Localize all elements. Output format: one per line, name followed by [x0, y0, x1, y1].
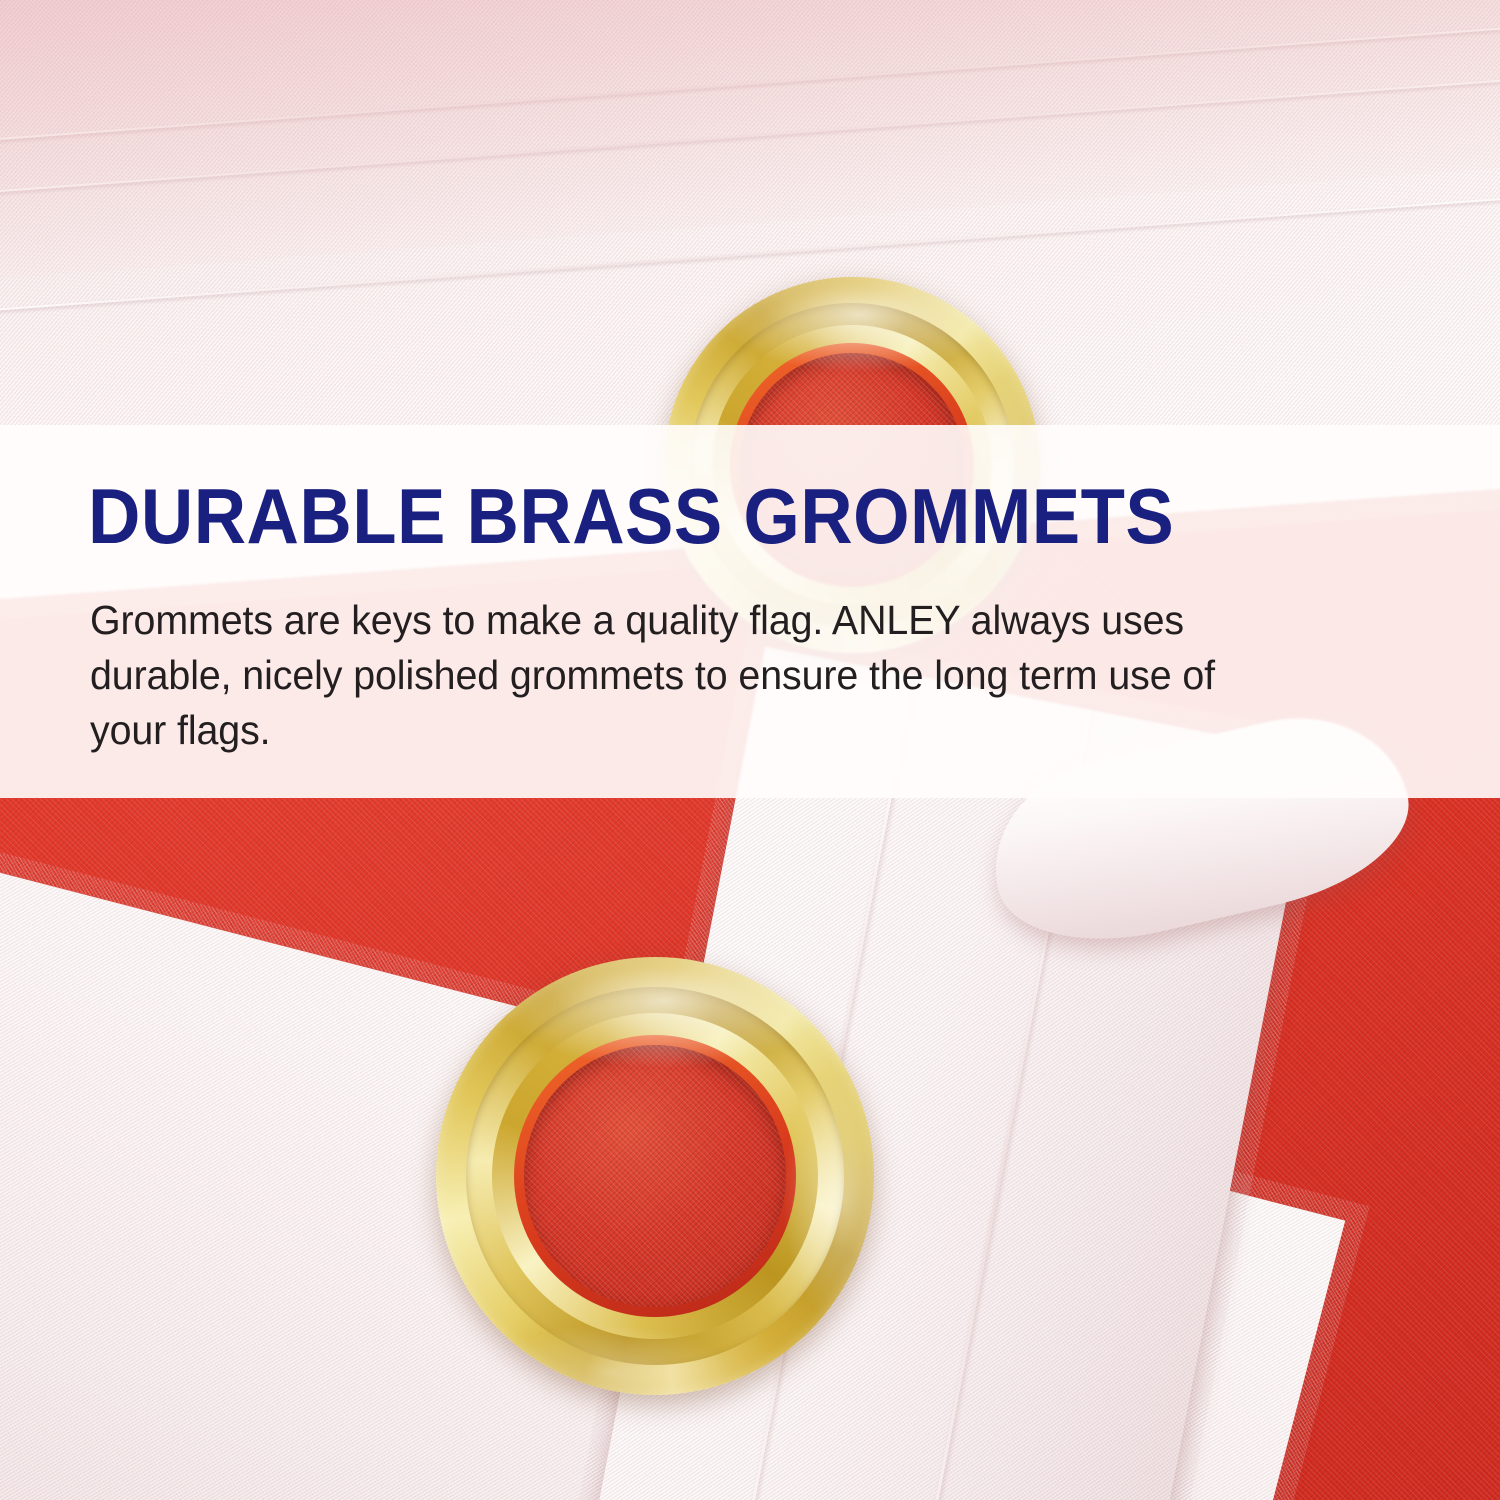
- red-fabric-weave-texture: [524, 1045, 786, 1307]
- body-description: Grommets are keys to make a quality flag…: [90, 593, 1285, 758]
- headline: DURABLE BRASS GROMMETS: [88, 477, 1174, 555]
- brass-grommet-lower: [436, 957, 874, 1395]
- promo-image: DURABLE BRASS GROMMETS Grommets are keys…: [0, 0, 1500, 1500]
- caption-content: DURABLE BRASS GROMMETS Grommets are keys…: [88, 425, 1380, 798]
- grommet-hole: [524, 1045, 786, 1307]
- caption-overlay-band: DURABLE BRASS GROMMETS Grommets are keys…: [0, 425, 1500, 798]
